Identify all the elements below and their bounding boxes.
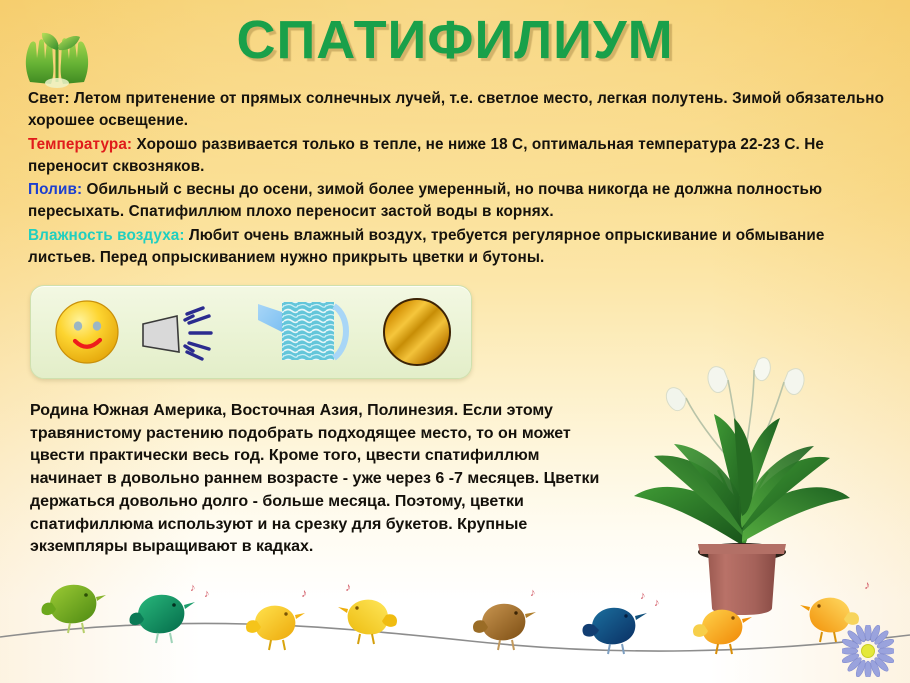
care-light: Свет: Летом притенение от прямых солнечн…: [28, 88, 886, 132]
svg-text:♪: ♪: [640, 590, 646, 602]
bird: ♪♪: [129, 582, 209, 643]
care-light-text: Летом притенение от прямых солнечных луч…: [28, 90, 884, 129]
svg-text:♪: ♪: [301, 586, 307, 600]
daisy-flower-icon: [842, 625, 894, 677]
care-watering: Полив: Обильный с весны до осени, зимой …: [28, 179, 886, 223]
care-humidity-label: Влажность воздуха:: [28, 227, 185, 244]
svg-text:♪: ♪: [345, 580, 351, 594]
care-icons-panel: [30, 285, 472, 379]
svg-text:♪: ♪: [190, 582, 196, 594]
bird: [693, 610, 752, 654]
care-temperature-text: Хорошо развивается только в тепле, не ни…: [28, 136, 824, 175]
bird: [338, 600, 397, 644]
watering-can-icon: [256, 298, 361, 366]
smiley-sun-icon: [53, 298, 121, 366]
bird: ♪: [246, 586, 307, 650]
amber-circle-icon: [381, 296, 453, 368]
care-instructions: Свет: Летом притенение от прямых солнечн…: [28, 88, 886, 271]
plant-description: Родина Южная Америка, Восточная Азия, По…: [30, 400, 600, 559]
plant-description-text: Родина Южная Америка, Восточная Азия, По…: [30, 400, 600, 559]
bird: ♪♪: [582, 590, 659, 654]
care-humidity: Влажность воздуха: Любит очень влажный в…: [28, 225, 886, 269]
care-light-label: Свет:: [28, 90, 70, 107]
slide-root: СПАТИФИЛИУМ Свет: Летом притенение от пр…: [0, 0, 910, 683]
care-temperature-label: Температура:: [28, 136, 132, 153]
care-temperature: Температура: Хорошо развивается только в…: [28, 134, 886, 178]
svg-text:♪: ♪: [530, 587, 536, 599]
bird: ♪: [473, 587, 536, 650]
svg-text:♪: ♪: [204, 588, 210, 600]
svg-text:♪: ♪: [864, 578, 870, 592]
birds-on-wire-decoration: ♪♪ ♪ ♪: [0, 563, 910, 683]
care-watering-label: Полив:: [28, 181, 82, 198]
bird: [41, 585, 106, 633]
page-title: СПАТИФИЛИУМ: [0, 12, 910, 69]
care-watering-text: Обильный с весны до осени, зимой более у…: [28, 181, 822, 220]
sprayer-icon: [141, 306, 241, 362]
svg-text:♪: ♪: [654, 597, 660, 609]
